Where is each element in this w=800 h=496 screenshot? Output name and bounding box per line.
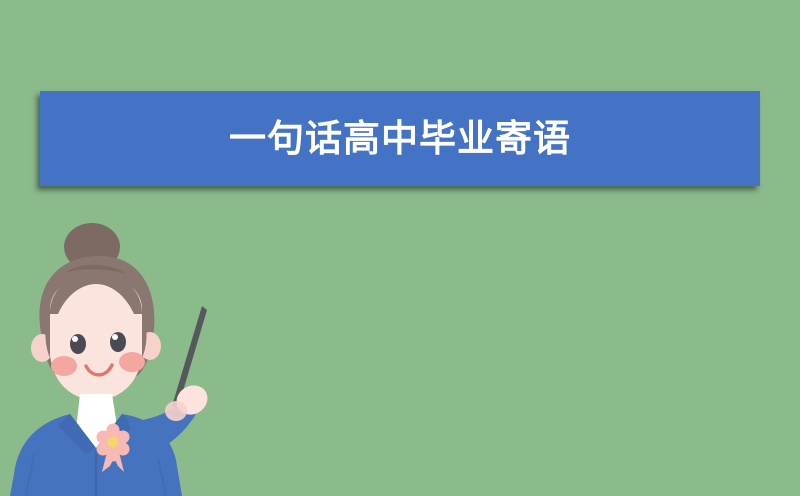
slide-canvas: 一句话高中毕业寄语 bbox=[0, 0, 800, 496]
blush-left-icon bbox=[51, 356, 77, 376]
title-banner: 一句话高中毕业寄语 bbox=[40, 91, 760, 186]
eye-right-icon bbox=[110, 332, 126, 352]
blush-right-icon bbox=[119, 352, 145, 372]
face-icon bbox=[46, 274, 147, 400]
eye-left-icon bbox=[70, 334, 86, 354]
cartoon-teacher-illustration bbox=[0, 218, 260, 496]
page-title: 一句话高中毕业寄语 bbox=[229, 120, 571, 157]
lower-hand-icon bbox=[165, 401, 187, 421]
